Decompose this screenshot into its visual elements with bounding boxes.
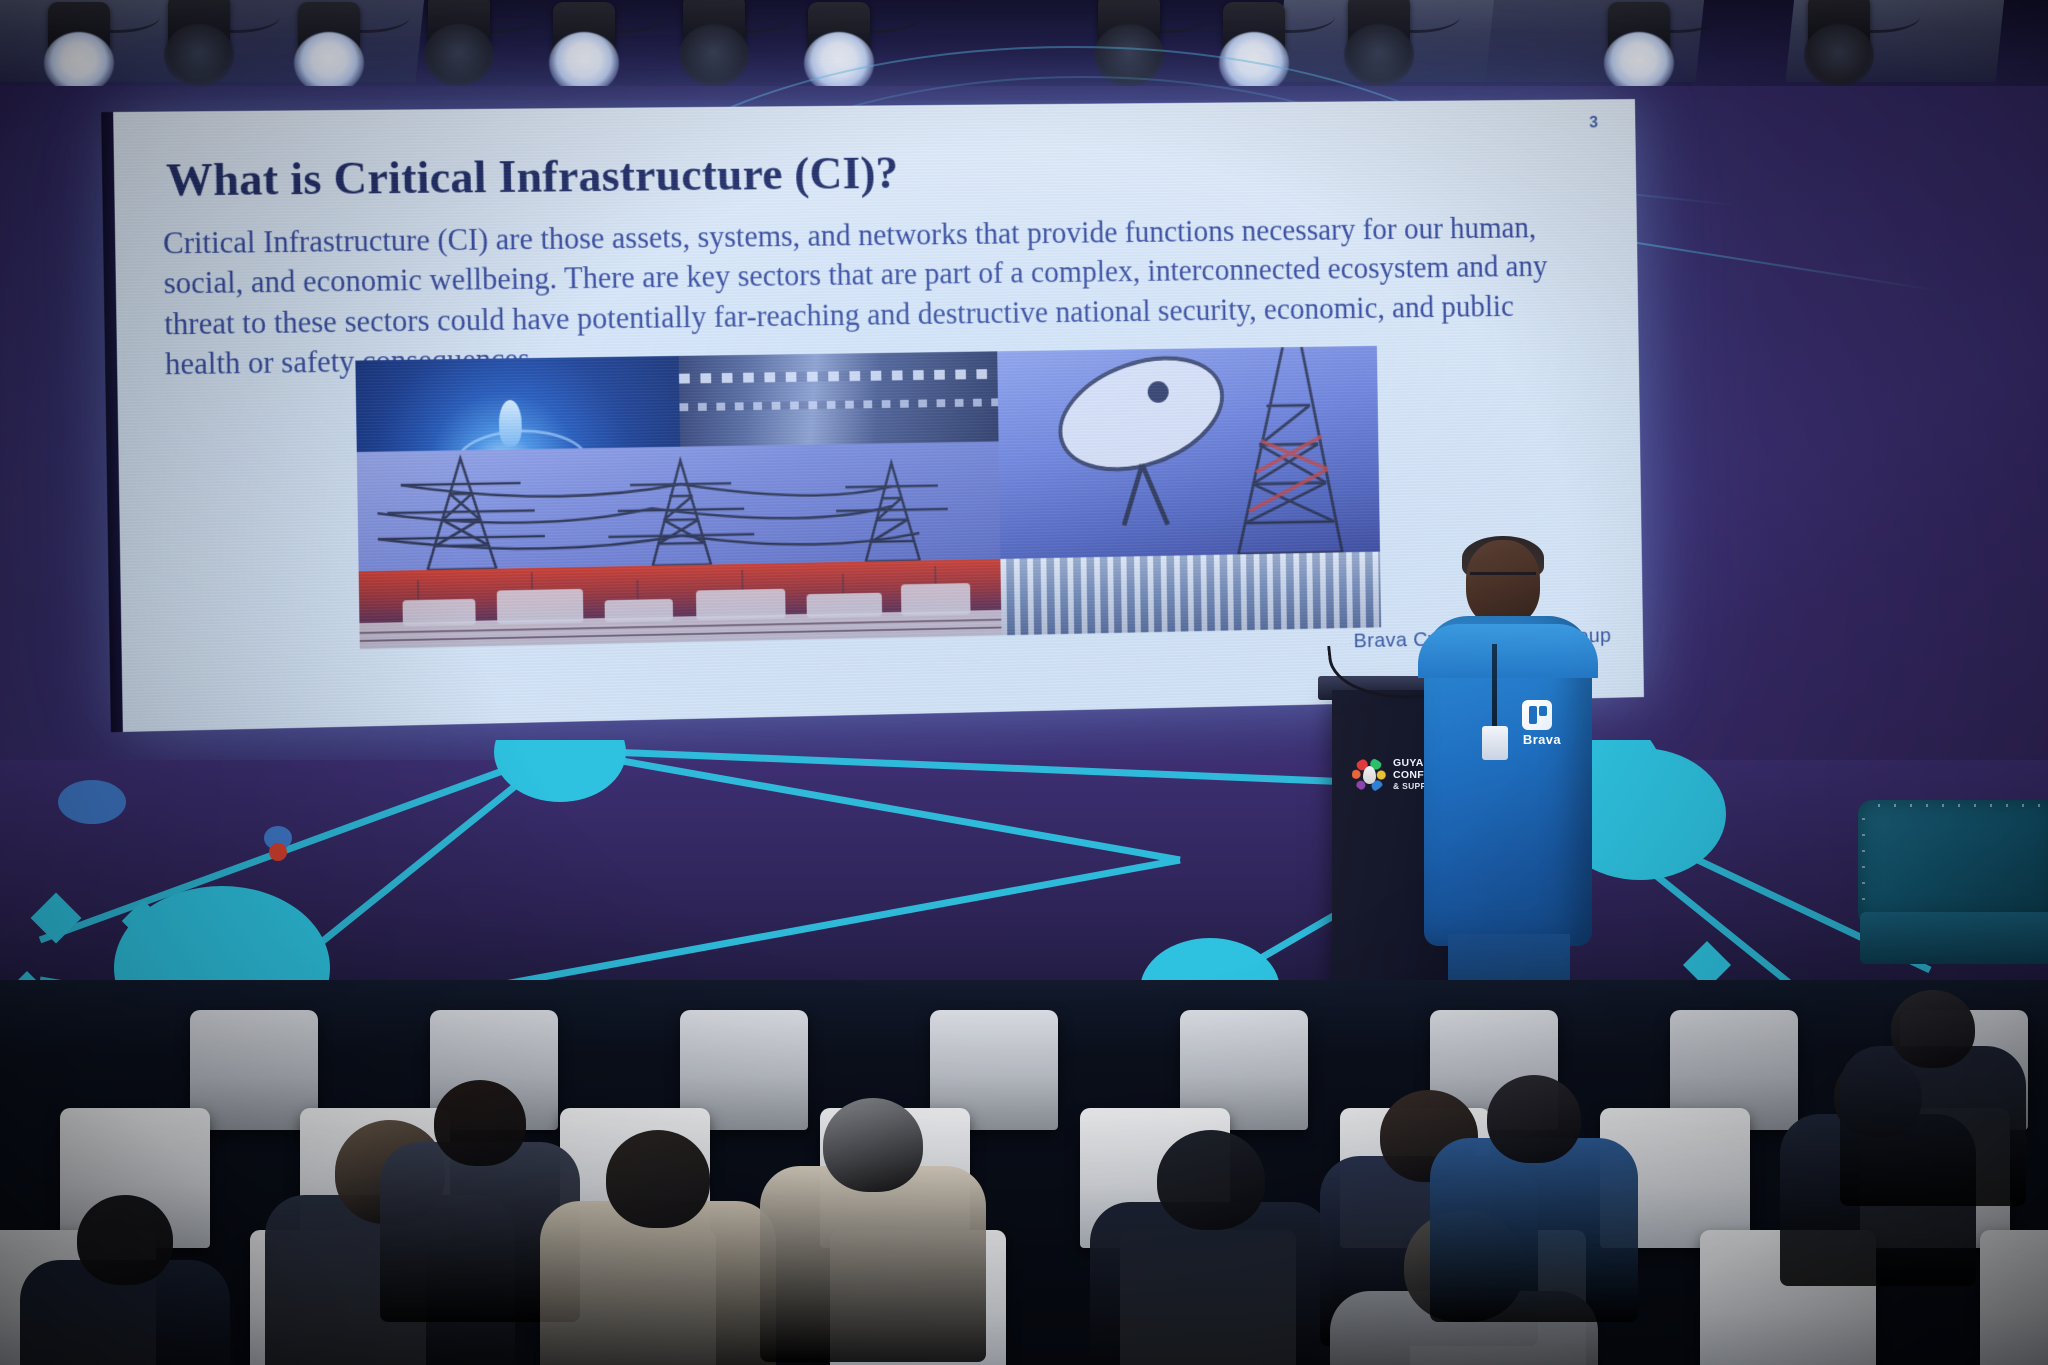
shirt-brand-name: Brava bbox=[1514, 732, 1570, 747]
slide-image-collage bbox=[355, 346, 1381, 649]
audience-member bbox=[1430, 1075, 1638, 1347]
image-oil-refinery bbox=[359, 559, 1002, 649]
slide-title: What is Critical Infrastructure (CI)? bbox=[166, 147, 899, 208]
stage-light-6-fixture bbox=[675, 0, 753, 90]
conference-scene: 3 What is Critical Infrastructure (CI)? … bbox=[0, 0, 2048, 1365]
lanyard bbox=[1492, 644, 1497, 728]
stage-light-5-fixture bbox=[545, 2, 623, 98]
light-lens bbox=[1604, 32, 1674, 94]
audience-member bbox=[1090, 1130, 1332, 1365]
audience-member bbox=[1840, 990, 2026, 1228]
armchair-seat bbox=[1860, 912, 2048, 964]
audience-member-body bbox=[1430, 1138, 1638, 1322]
audience-member-head bbox=[77, 1195, 173, 1285]
oil-drop-icon bbox=[1363, 766, 1376, 784]
audience-area bbox=[0, 980, 2048, 1365]
image-satellite-dish-tower bbox=[997, 346, 1380, 559]
slide-number: 3 bbox=[1589, 113, 1598, 132]
speaker-shoulders bbox=[1418, 624, 1598, 678]
audience-member-head bbox=[1891, 990, 1975, 1068]
image-electrical-pylons bbox=[357, 441, 1001, 571]
stage-armchair bbox=[1858, 800, 2048, 990]
shirt-brand-logo: Brava bbox=[1514, 700, 1570, 752]
audience-member-head bbox=[606, 1130, 710, 1228]
stage-light-3-fixture bbox=[290, 2, 368, 98]
stage-light-10-fixture bbox=[1340, 0, 1418, 90]
audience-member bbox=[540, 1130, 776, 1365]
stage-light-2-fixture bbox=[160, 0, 238, 90]
refinery-icon bbox=[359, 559, 1002, 649]
light-lens bbox=[44, 32, 114, 94]
light-lens bbox=[549, 32, 619, 94]
audience-member-head bbox=[434, 1080, 526, 1166]
stage-light-1-fixture bbox=[40, 2, 118, 98]
tower-lattice-icon bbox=[997, 346, 1380, 559]
audience-member-head bbox=[1487, 1075, 1581, 1163]
stage-light-4-fixture bbox=[420, 0, 498, 90]
audience-member bbox=[760, 1098, 986, 1365]
image-highway-traffic bbox=[679, 351, 999, 446]
audience-member-body bbox=[760, 1166, 986, 1362]
stage-light-12-fixture bbox=[1800, 0, 1878, 90]
light-lens bbox=[679, 24, 749, 86]
armchair-studs bbox=[1862, 804, 2048, 916]
audience-member-head bbox=[823, 1098, 923, 1192]
speaker-presenter: Brava bbox=[1418, 540, 1598, 1010]
image-data-center-servers bbox=[1000, 552, 1381, 636]
audience-member bbox=[20, 1195, 230, 1365]
light-lens bbox=[164, 24, 234, 86]
light-lens bbox=[424, 24, 494, 86]
stage-light-11-fixture bbox=[1600, 2, 1678, 98]
audience-member-body bbox=[1840, 1046, 2026, 1206]
pylon-lattice-icon bbox=[357, 441, 1001, 571]
glasses-icon bbox=[1470, 572, 1536, 588]
armchair-back bbox=[1858, 800, 2048, 920]
light-lens bbox=[1344, 24, 1414, 86]
light-lens bbox=[294, 32, 364, 94]
light-lens bbox=[1804, 24, 1874, 86]
audience-member-head bbox=[1157, 1130, 1265, 1230]
conference-logo-icon bbox=[1352, 758, 1386, 792]
brava-mark-icon bbox=[1522, 700, 1552, 730]
audience-seat bbox=[190, 1010, 318, 1130]
audience-seat bbox=[1980, 1230, 2048, 1365]
badge-card bbox=[1482, 726, 1508, 760]
